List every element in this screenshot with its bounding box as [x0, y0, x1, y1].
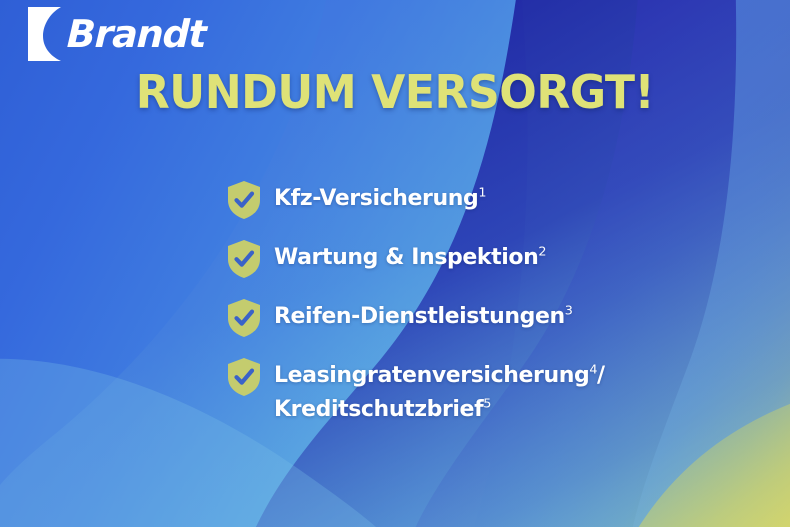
list-item-text: Leasingratenversicherung4/ Kreditschutzb…: [274, 357, 605, 427]
benefit-label: Kfz-Versicherung: [274, 186, 478, 211]
list-item-text: Wartung & Inspektion2: [274, 239, 546, 275]
benefits-list: Kfz-Versicherung1 Wartung & Inspektion2 …: [228, 180, 748, 427]
list-item: Wartung & Inspektion2: [228, 239, 748, 278]
benefit-label: Wartung & Inspektion: [274, 245, 538, 270]
list-item-text: Kfz-Versicherung1: [274, 180, 486, 216]
benefit-footnote-2: 5: [483, 397, 491, 412]
shield-check-icon: [228, 240, 260, 278]
brandt-bracket-mark-icon: [28, 7, 61, 61]
benefit-label: Leasingratenversicherung: [274, 363, 589, 388]
shield-check-icon: [228, 358, 260, 396]
page-title: RUNDUM VERSORGT!: [16, 68, 774, 116]
shield-check-icon: [228, 181, 260, 219]
benefit-label-line2: Kreditschutzbrief5: [274, 393, 605, 427]
benefit-label-2: Kreditschutzbrief: [274, 397, 483, 422]
benefit-label: Reifen-Dienstleistungen: [274, 304, 565, 329]
brand-logo[interactable]: Brandt: [28, 6, 206, 62]
list-item-text: Reifen-Dienstleistungen3: [274, 298, 572, 334]
benefit-footnote: 1: [478, 186, 486, 201]
benefit-footnote: 2: [538, 245, 546, 260]
promo-banner: Brandt RUNDUM VERSORGT! Kfz-Versicherung…: [0, 0, 790, 527]
benefit-footnote: 4: [589, 363, 597, 378]
list-item: Reifen-Dienstleistungen3: [228, 298, 748, 337]
shield-check-icon: [228, 299, 260, 337]
benefit-separator: /: [597, 363, 605, 388]
brand-name: Brandt: [66, 15, 206, 53]
list-item: Leasingratenversicherung4/ Kreditschutzb…: [228, 357, 748, 427]
benefit-footnote: 3: [565, 304, 573, 319]
list-item: Kfz-Versicherung1: [228, 180, 748, 219]
